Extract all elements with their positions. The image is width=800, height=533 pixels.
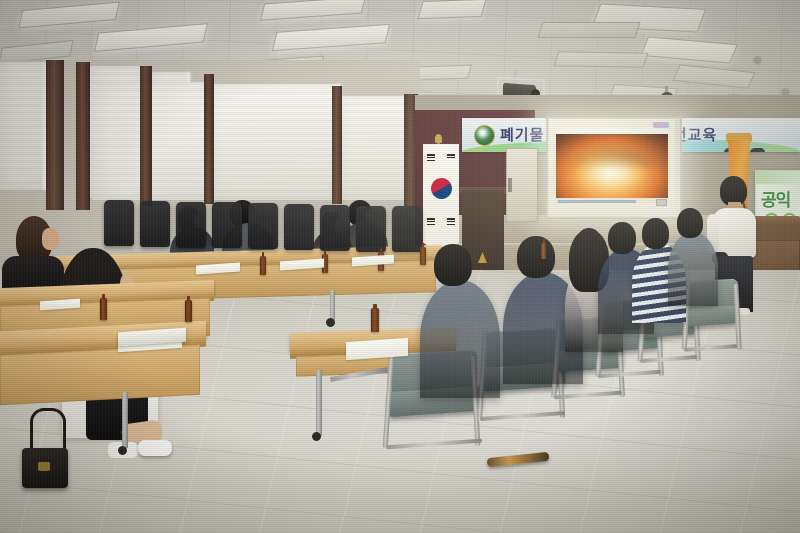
paper-2 — [346, 338, 408, 360]
paper-group — [0, 0, 800, 533]
paper-5 — [352, 255, 394, 267]
paper-6 — [40, 299, 80, 311]
meeting-room-photo: 폐기물 안전교육 공익 — [0, 0, 800, 533]
paper-4 — [280, 258, 324, 270]
paper-3 — [196, 262, 240, 274]
